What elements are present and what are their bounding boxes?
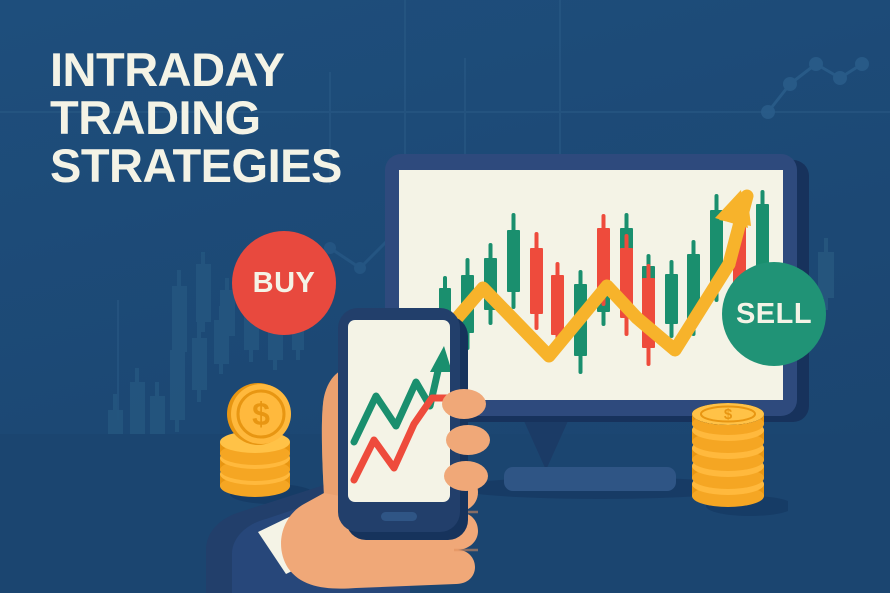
coin-stack-right: $ bbox=[678, 398, 788, 518]
title-line-2: TRADING bbox=[50, 94, 390, 142]
page-title: INTRADAY TRADING STRATEGIES bbox=[50, 46, 390, 190]
dollar-sign-icon: $ bbox=[724, 406, 733, 423]
title-line-1: INTRADAY bbox=[50, 46, 390, 94]
hand-phone-svg bbox=[196, 300, 506, 593]
coin-stack-right-svg: $ bbox=[678, 398, 788, 518]
sell-badge-label: SELL bbox=[736, 298, 812, 331]
poster-canvas: INTRADAY TRADING STRATEGIES bbox=[0, 0, 890, 593]
sell-badge[interactable]: SELL bbox=[722, 262, 826, 366]
phone-home-button bbox=[381, 512, 417, 521]
buy-badge-label: BUY bbox=[253, 267, 316, 300]
title-line-3: STRATEGIES bbox=[50, 142, 390, 190]
monitor-stand-base bbox=[504, 467, 676, 491]
hand-holding-phone bbox=[196, 300, 506, 593]
fingertips bbox=[442, 389, 490, 491]
